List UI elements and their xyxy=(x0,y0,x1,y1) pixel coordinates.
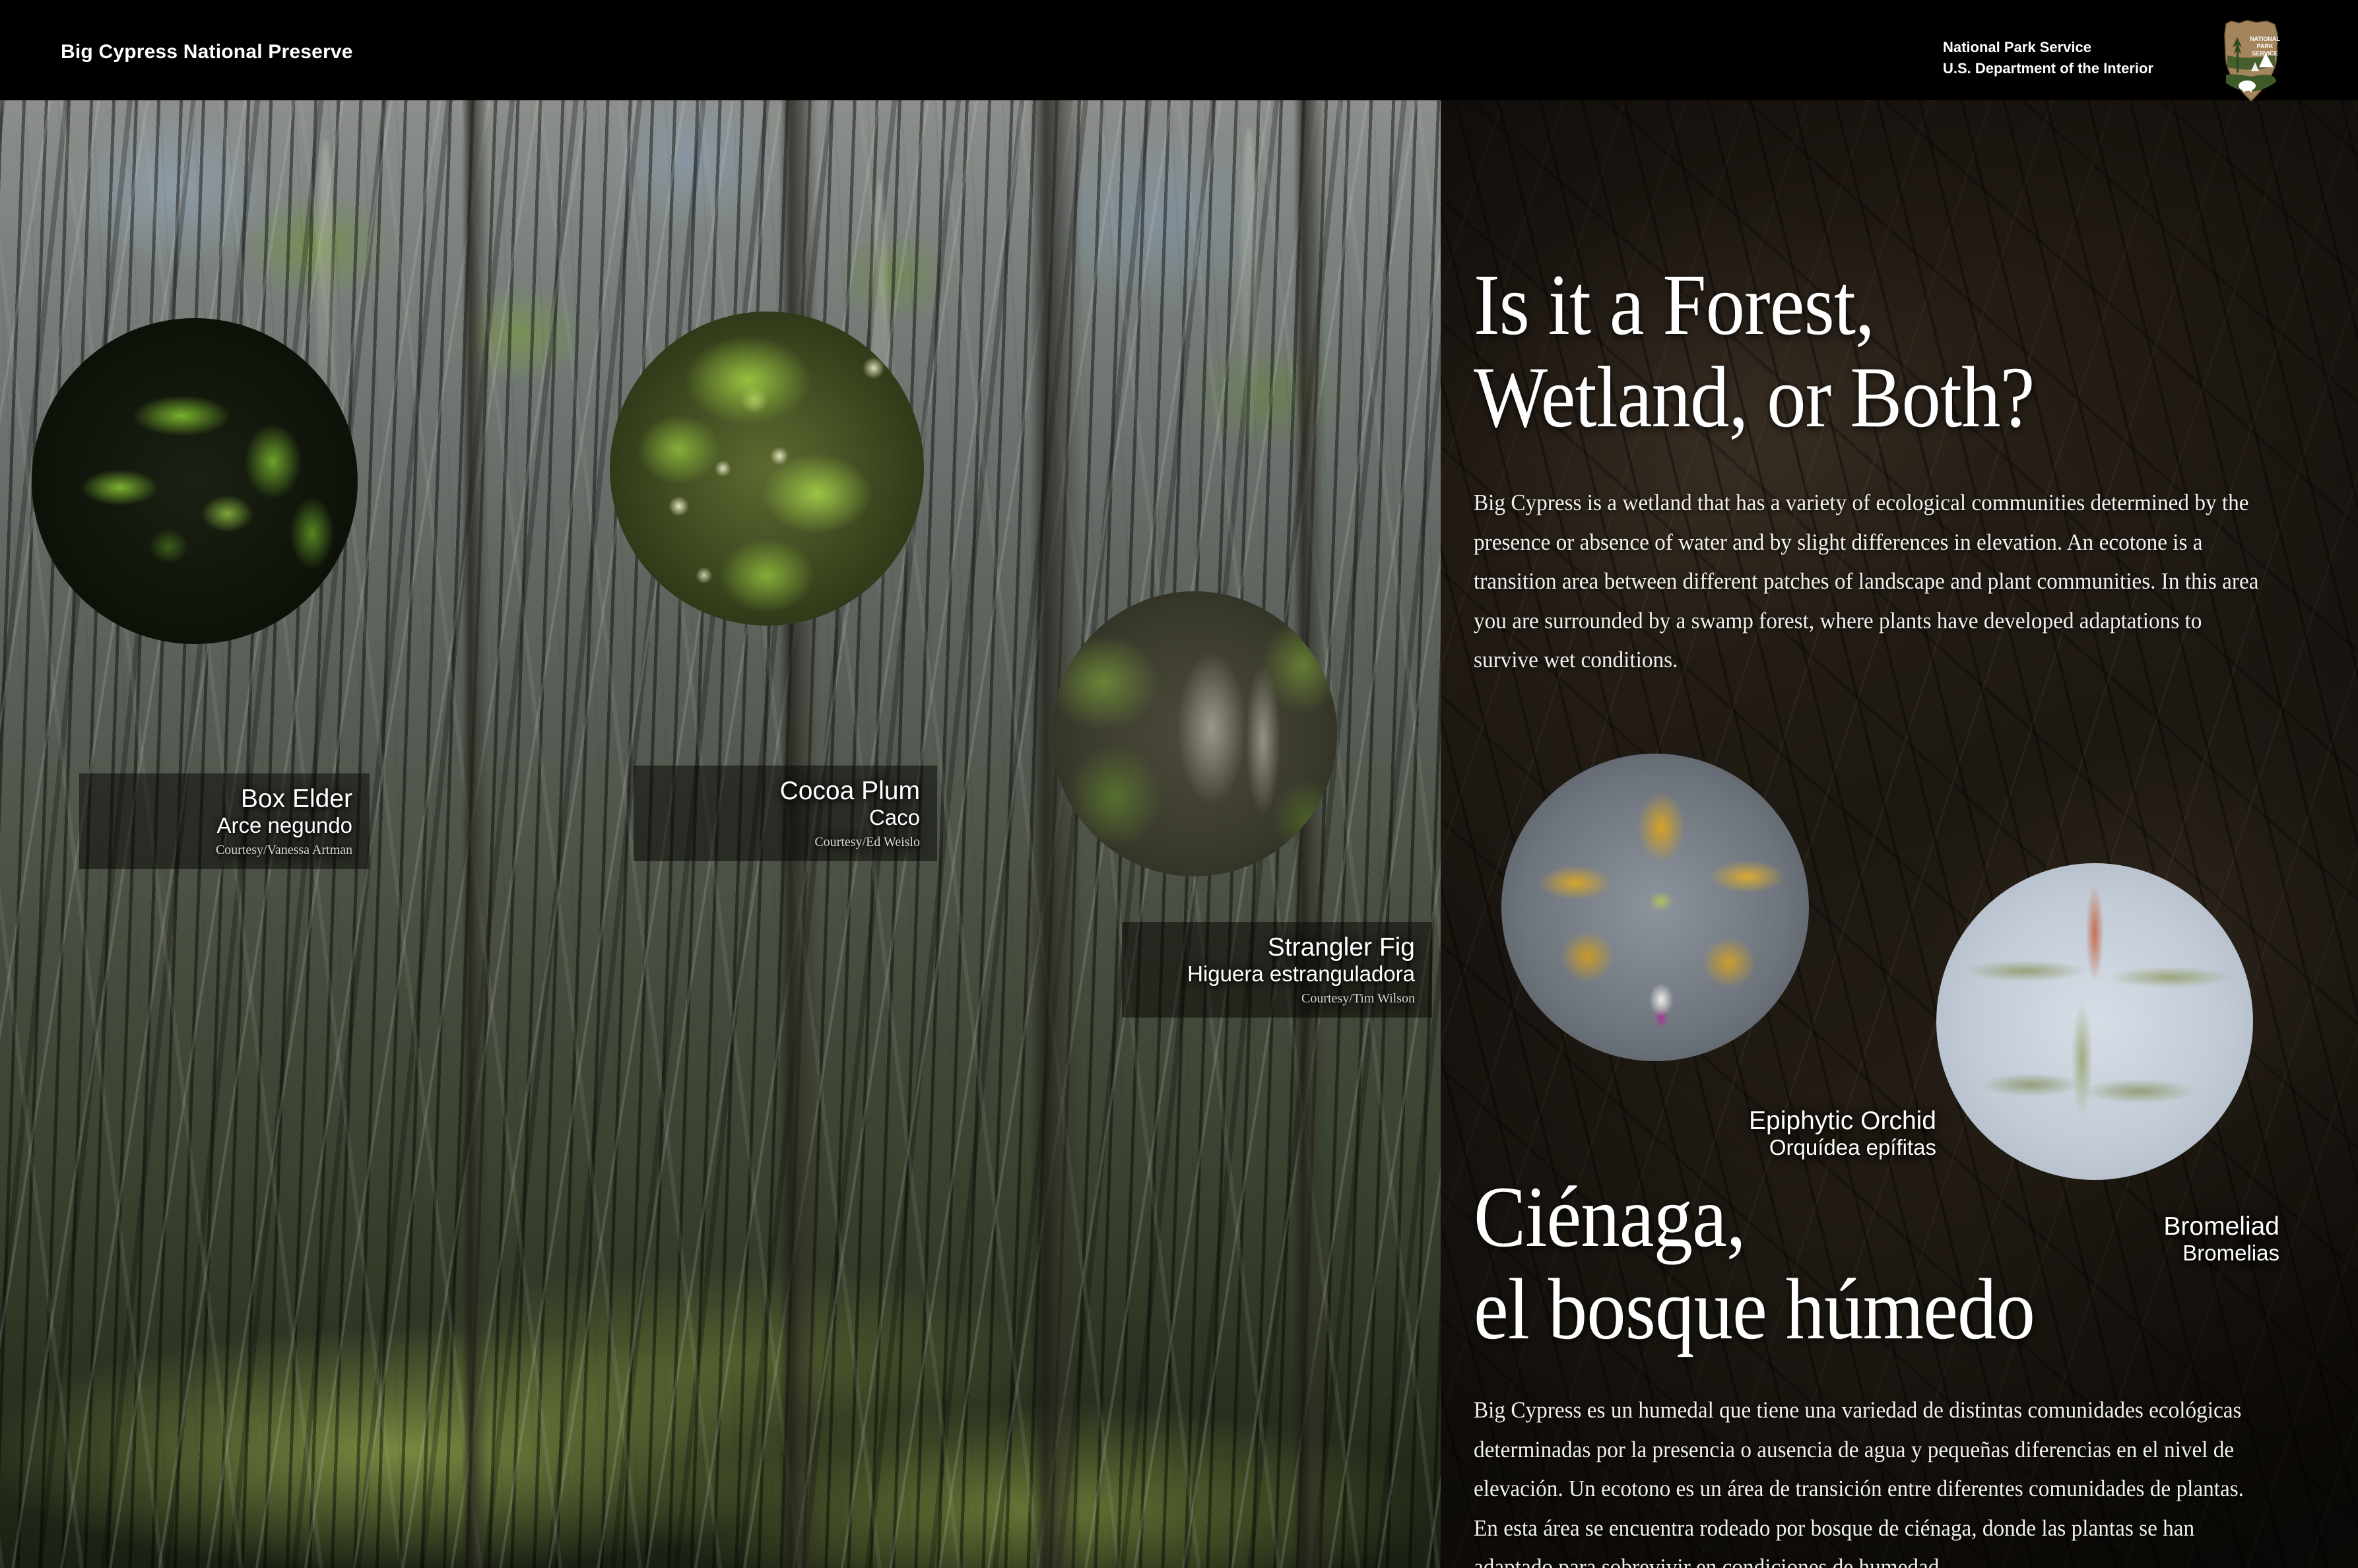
caption-spanish: Arce negundo xyxy=(96,813,352,839)
nps-arrowhead-icon: NATIONAL PARK SERVICE xyxy=(2217,20,2285,102)
svg-text:SERVICE: SERVICE xyxy=(2252,50,2277,57)
svg-text:PARK: PARK xyxy=(2257,43,2274,49)
photo-epiphytic-orchid xyxy=(1501,754,1809,1061)
caption-spanish: Caco xyxy=(651,805,920,831)
caption-box-elder: Box Elder Arce negundo Courtesy/Vanessa … xyxy=(79,773,370,869)
caption-cocoa-plum: Cocoa Plum Caco Courtesy/Ed Weislo xyxy=(634,766,937,861)
caption-epiphytic-orchid: Epiphytic Orchid Orquídea epífitas xyxy=(1670,1095,1953,1171)
agency-identifier: National Park Service U.S. Department of… xyxy=(1943,37,2153,79)
agency-line-1: National Park Service xyxy=(1943,37,2153,58)
spanish-body-text: Big Cypress es un humedal que tiene una … xyxy=(1474,1390,2269,1568)
spanish-title-line-1: Ciénaga, xyxy=(1474,1171,2222,1263)
cypress-trunk xyxy=(462,100,488,1568)
park-name: Big Cypress National Preserve xyxy=(61,41,353,63)
caption-english: Cocoa Plum xyxy=(651,777,920,805)
caption-spanish: Higuera estranguladora xyxy=(1139,962,1415,987)
caption-english: Box Elder xyxy=(96,785,352,813)
caption-credit: Courtesy/Ed Weislo xyxy=(651,833,920,851)
english-title-line-1: Is it a Forest, xyxy=(1474,259,2222,351)
caption-spanish: Orquídea epífitas xyxy=(1687,1135,1936,1161)
spanish-title-line-2: el bosque húmedo xyxy=(1474,1263,2222,1356)
spanish-title: Ciénaga, el bosque húmedo xyxy=(1474,1171,2222,1356)
english-title: Is it a Forest, Wetland, or Both? xyxy=(1474,259,2222,443)
photo-cocoa-plum xyxy=(610,311,924,626)
photo-box-elder xyxy=(32,318,358,644)
svg-text:NATIONAL: NATIONAL xyxy=(2250,36,2280,42)
cypress-trunk xyxy=(1030,100,1082,1568)
photo-bromeliad xyxy=(1936,863,2253,1180)
spanish-moss xyxy=(1241,127,1258,443)
caption-strangler-fig: Strangler Fig Higuera estranguladora Cou… xyxy=(1122,922,1432,1018)
caption-english: Epiphytic Orchid xyxy=(1687,1107,1936,1135)
caption-credit: Courtesy/Vanessa Artman xyxy=(96,841,352,859)
photo-strangler-fig xyxy=(1052,591,1337,876)
caption-english: Strangler Fig xyxy=(1139,934,1415,962)
caption-credit: Courtesy/Tim Wilson xyxy=(1139,990,1415,1007)
agency-line-2: U.S. Department of the Interior xyxy=(1943,58,2153,79)
english-title-line-2: Wetland, or Both? xyxy=(1474,351,2222,443)
cypress-trunk xyxy=(1294,100,1325,1568)
english-body-text: Big Cypress is a wetland that has a vari… xyxy=(1474,483,2269,680)
sign-panel: Box Elder Arce negundo Courtesy/Vanessa … xyxy=(0,100,2358,1568)
sign-header: Big Cypress National Preserve National P… xyxy=(0,0,2358,100)
